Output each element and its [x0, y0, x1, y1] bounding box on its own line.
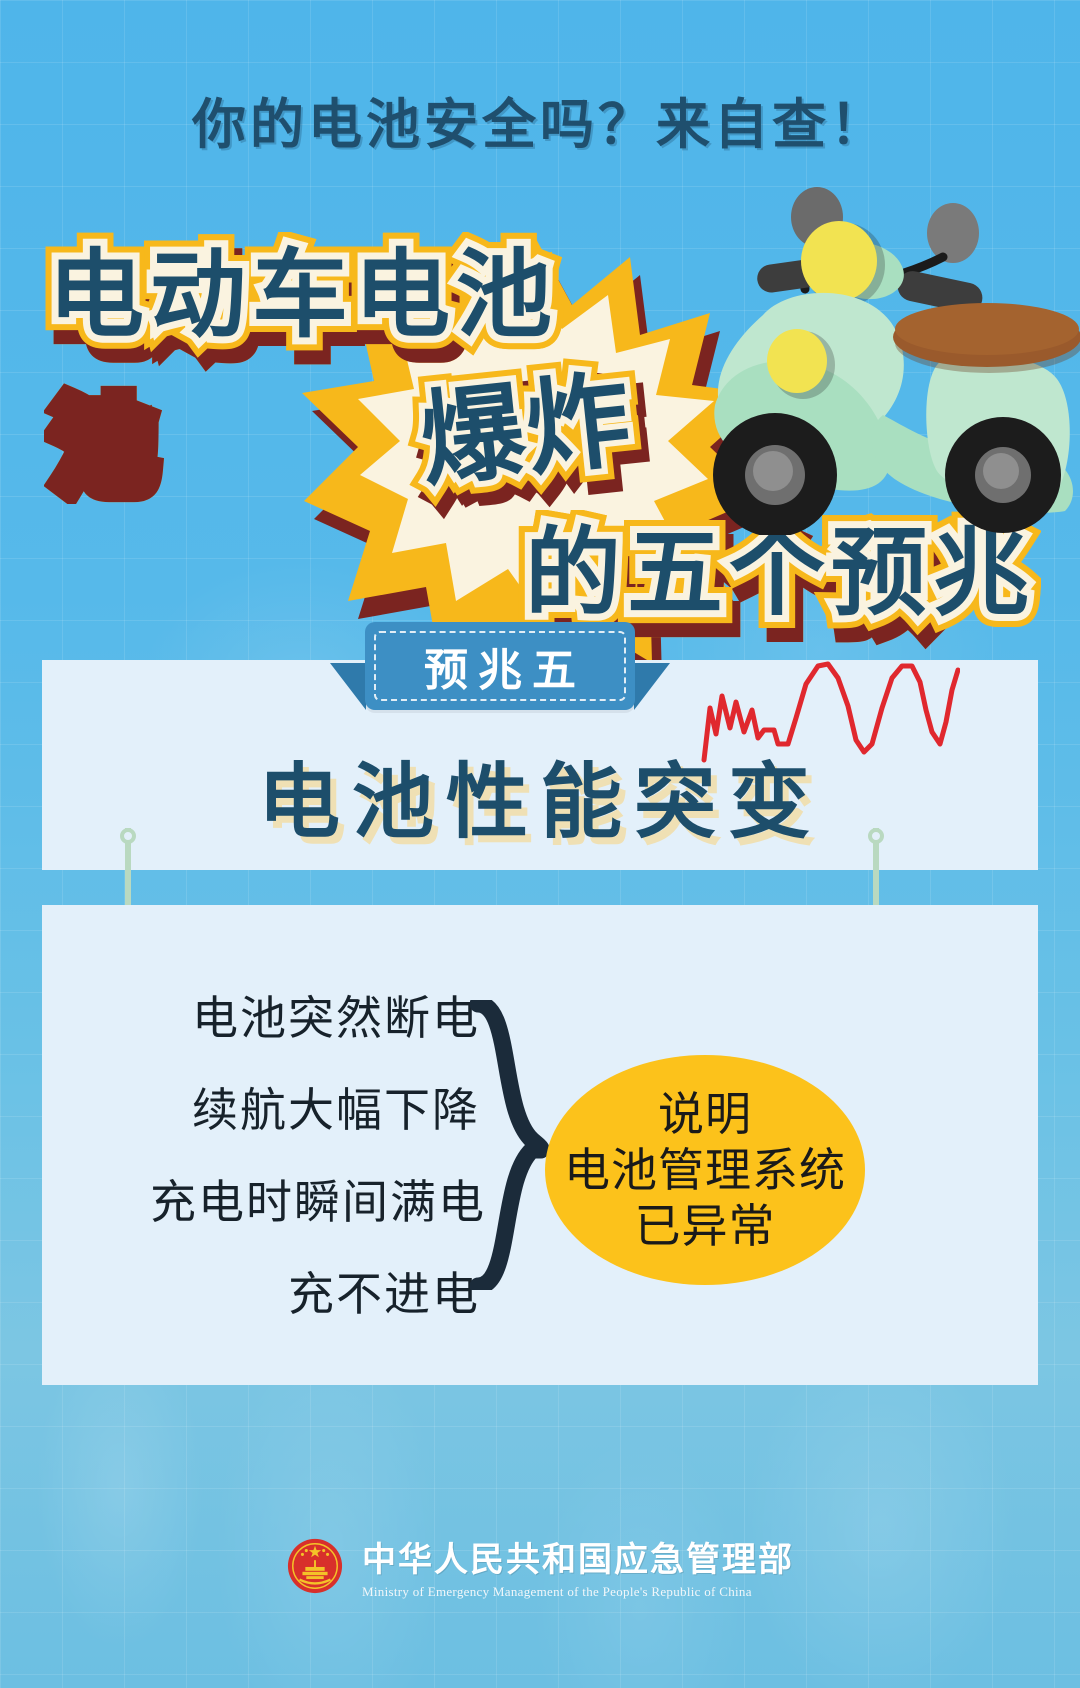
list-item: 充电时瞬间满电 — [150, 1179, 480, 1225]
footer-text: 中华人民共和国应急管理部 Ministry of Emergency Manag… — [362, 1532, 794, 1600]
section-heading: 电池性能突变 — [0, 735, 1080, 854]
badge-ribbon-fold-left — [330, 663, 366, 710]
national-emblem-icon — [286, 1537, 344, 1595]
footer-org-en: Ministry of Emergency Management of the … — [362, 1584, 794, 1600]
conclusion-line-3: 已异常 — [635, 1198, 776, 1254]
burst-word-text: 爆炸 — [415, 362, 638, 500]
curly-brace-icon — [470, 1000, 560, 1290]
title-line-1: 电动车电池 电动车电池 电动车电池 — [48, 217, 558, 356]
electric-scooter-illustration — [645, 165, 1080, 535]
poster-root: 你的电池安全吗？来自查！ 电动车电池 电动车电池 电动车电池 爆炸 爆炸 爆炸 … — [0, 0, 1080, 1688]
conclusion-line-2: 电池管理系统 — [564, 1142, 846, 1198]
symptom-list: 电池突然断电 续航大幅下降 充电时瞬间满电 充不进电 — [150, 995, 480, 1363]
title-line-1-text: 电动车电池 — [48, 242, 558, 349]
list-item: 续航大幅下降 — [150, 1087, 480, 1133]
badge-ribbon-fold-right — [634, 663, 670, 710]
sign-number-badge: 预兆五 — [365, 622, 635, 710]
footer-org-cn: 中华人民共和国应急管理部 — [362, 1532, 794, 1581]
page-tagline: 你的电池安全吗？来自查！ — [0, 80, 1080, 159]
badge-label: 预兆五 — [414, 634, 586, 698]
list-item: 充不进电 — [150, 1271, 480, 1317]
connector-cap-top — [120, 828, 136, 844]
conclusion-line-1: 说明 — [658, 1086, 752, 1142]
footer: 中华人民共和国应急管理部 Ministry of Emergency Manag… — [0, 1532, 1080, 1600]
connector-cap-top — [868, 828, 884, 844]
conclusion-bubble: 说明 电池管理系统 已异常 — [545, 1055, 865, 1285]
list-item: 电池突然断电 — [150, 995, 480, 1041]
title-line-2-text: 的五个预兆 — [525, 520, 1035, 627]
